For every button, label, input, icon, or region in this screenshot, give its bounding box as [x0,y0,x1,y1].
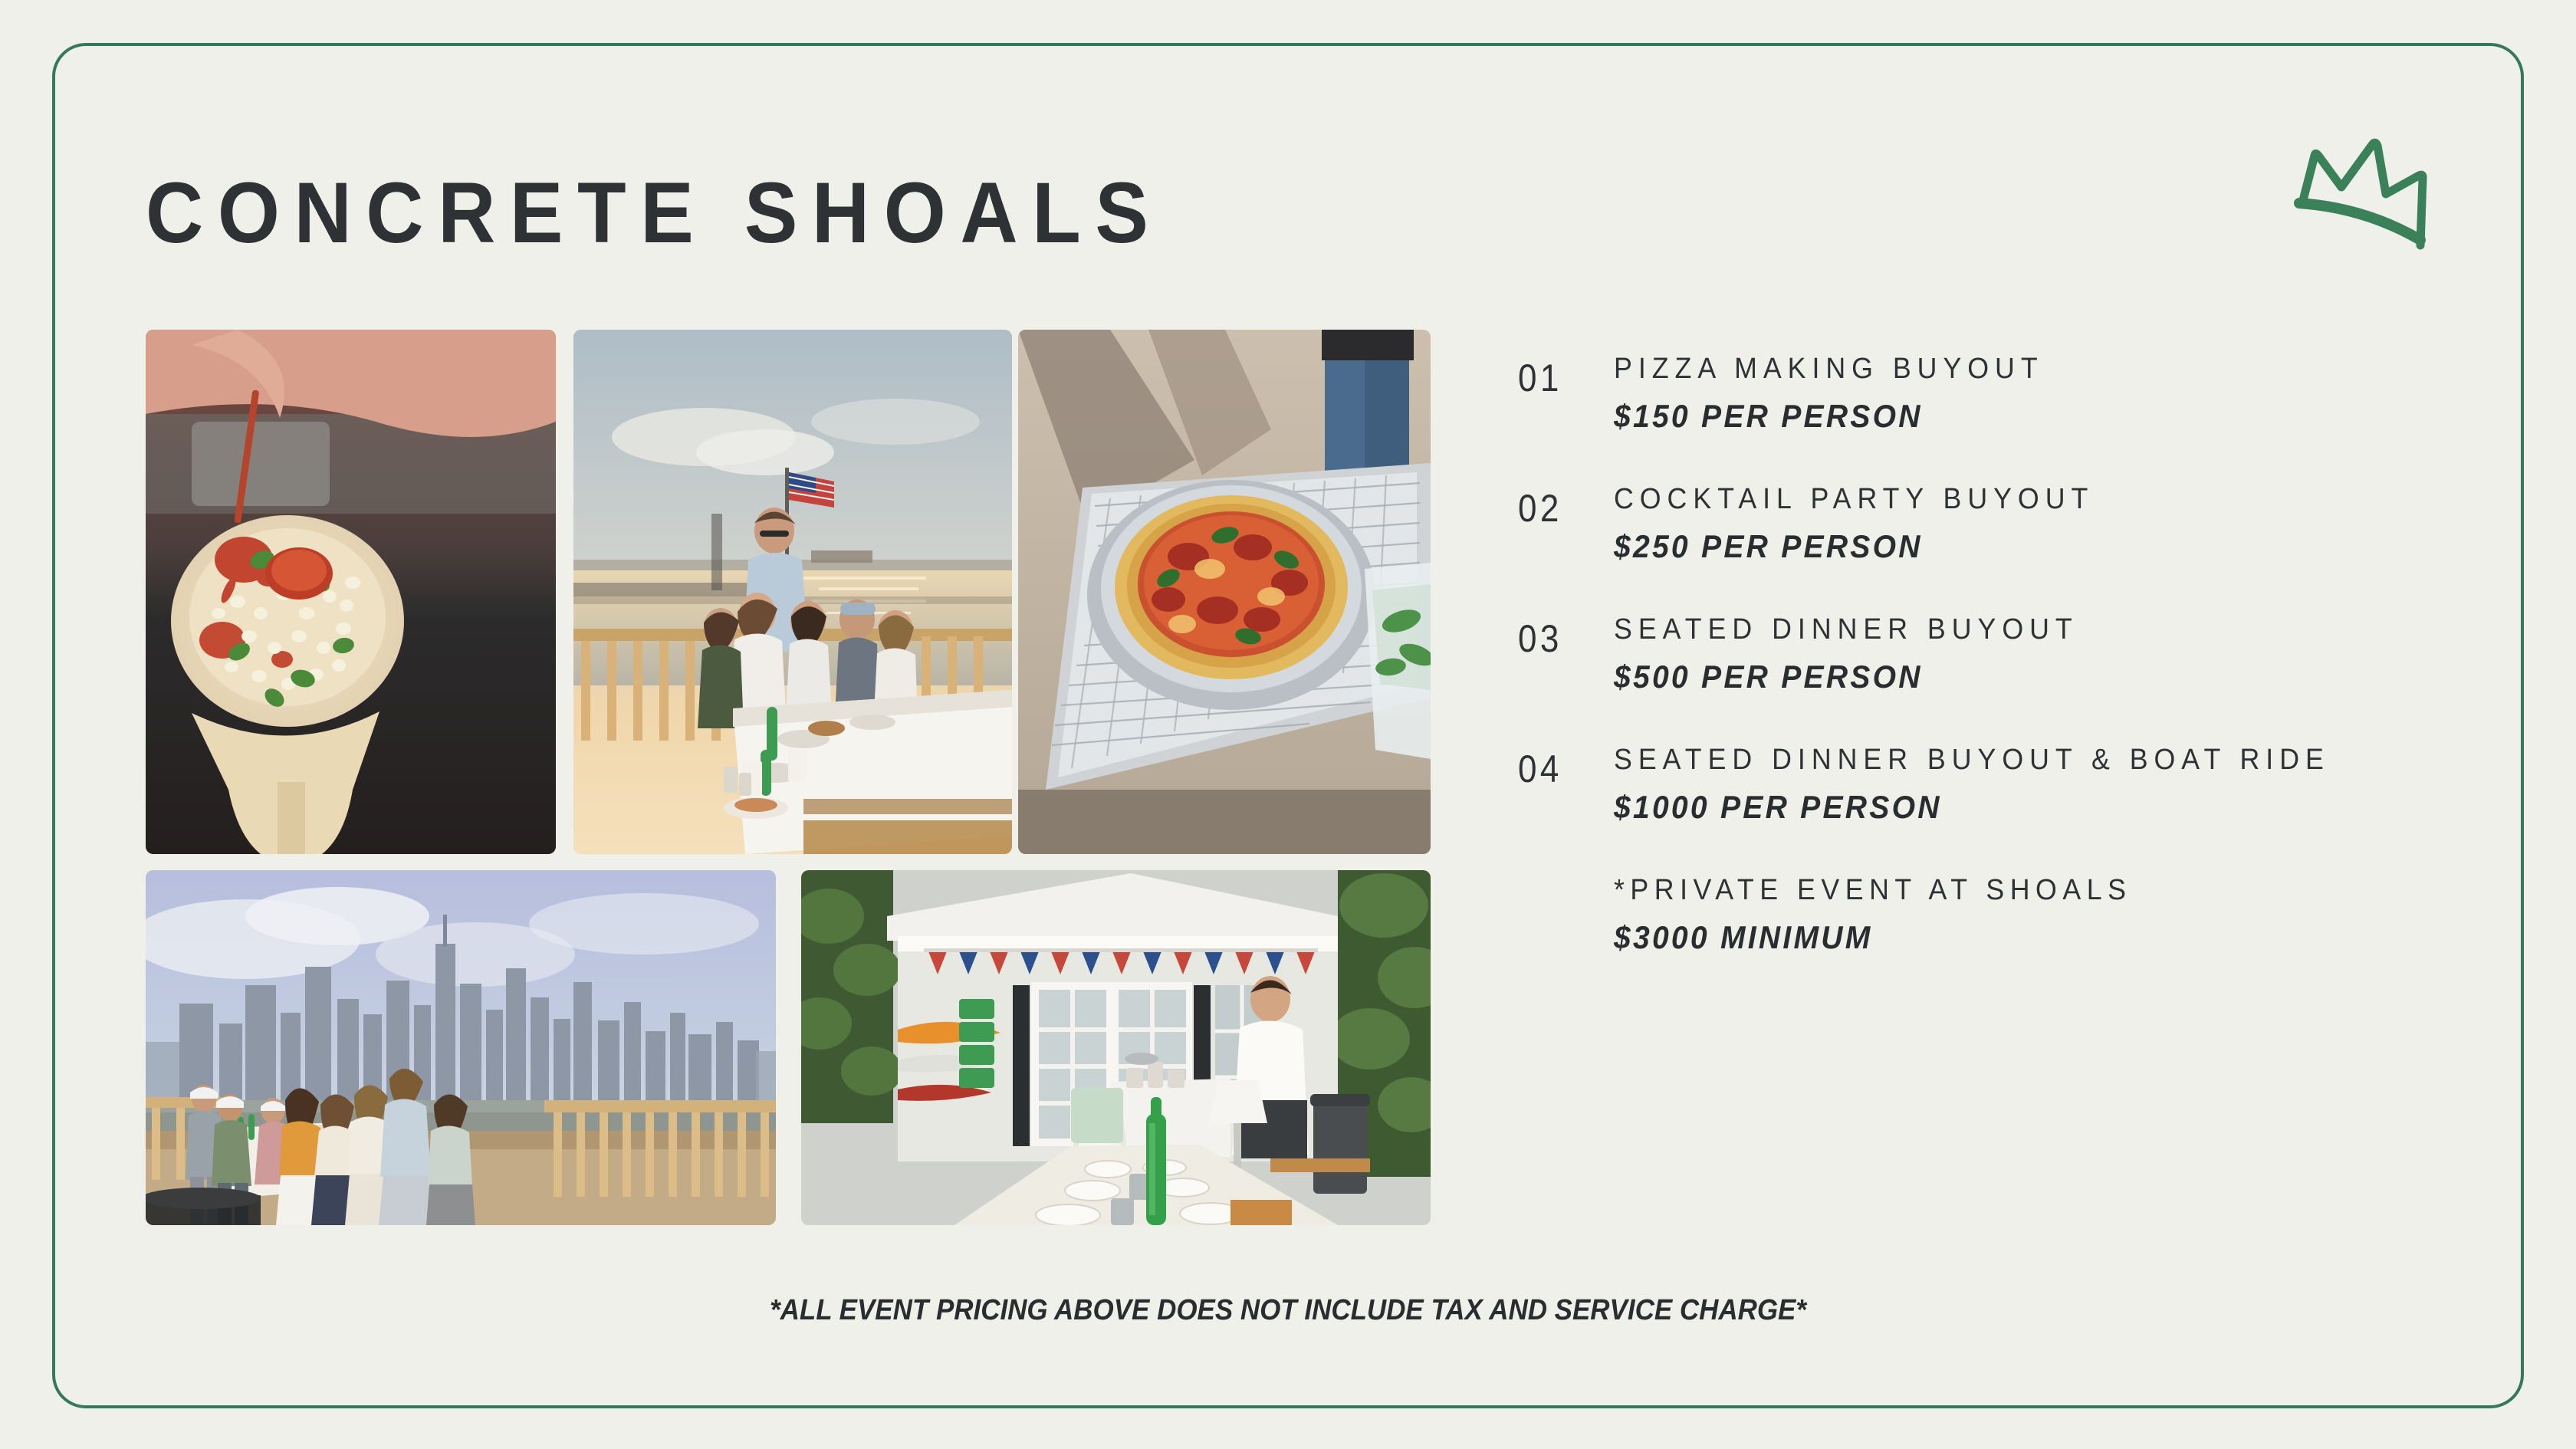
price-number: 01 [1518,359,1562,397]
pricing-list: 01 PIZZA MAKING BUYOUT $150 PER PERSON 0… [1518,354,2484,954]
crown-icon [2281,127,2457,264]
price-label: SEATED DINNER BUYOUT [1614,615,2432,644]
pricing-note-value: $3000 MINIMUM [1614,922,2423,954]
photo-dinner-table [801,870,1431,1225]
photo-waterfront [573,330,1012,854]
price-value: $1000 PER PERSON [1614,791,2423,823]
photo-skyline [146,870,776,1225]
price-number: 03 [1518,619,1562,658]
price-item-01: 01 PIZZA MAKING BUYOUT $150 PER PERSON [1518,354,2484,434]
price-item-03: 03 SEATED DINNER BUYOUT $500 PER PERSON [1518,615,2484,695]
price-value: $500 PER PERSON [1614,661,2423,693]
price-value: $250 PER PERSON [1614,531,2423,563]
page-title: CONCRETE SHOALS [146,170,1162,256]
disclaimer-text: *ALL EVENT PRICING ABOVE DOES NOT INCLUD… [103,1296,2472,1325]
price-number: 04 [1518,750,1562,788]
price-label: SEATED DINNER BUYOUT & BOAT RIDE [1614,745,2432,774]
price-number: 02 [1518,489,1562,527]
price-value: $150 PER PERSON [1614,400,2423,432]
price-label: PIZZA MAKING BUYOUT [1614,354,2432,383]
photo-pizza-prep [146,330,556,854]
pricing-note-label: *PRIVATE EVENT AT SHOALS [1614,876,2432,905]
price-item-02: 02 COCKTAIL PARTY BUYOUT $250 PER PERSON [1518,485,2484,564]
photo-pizza-rack [1018,330,1431,854]
price-label: COCKTAIL PARTY BUYOUT [1614,485,2432,514]
pricing-note: *PRIVATE EVENT AT SHOALS $3000 MINIMUM [1614,876,2484,954]
price-item-04: 04 SEATED DINNER BUYOUT & BOAT RIDE $100… [1518,745,2484,825]
